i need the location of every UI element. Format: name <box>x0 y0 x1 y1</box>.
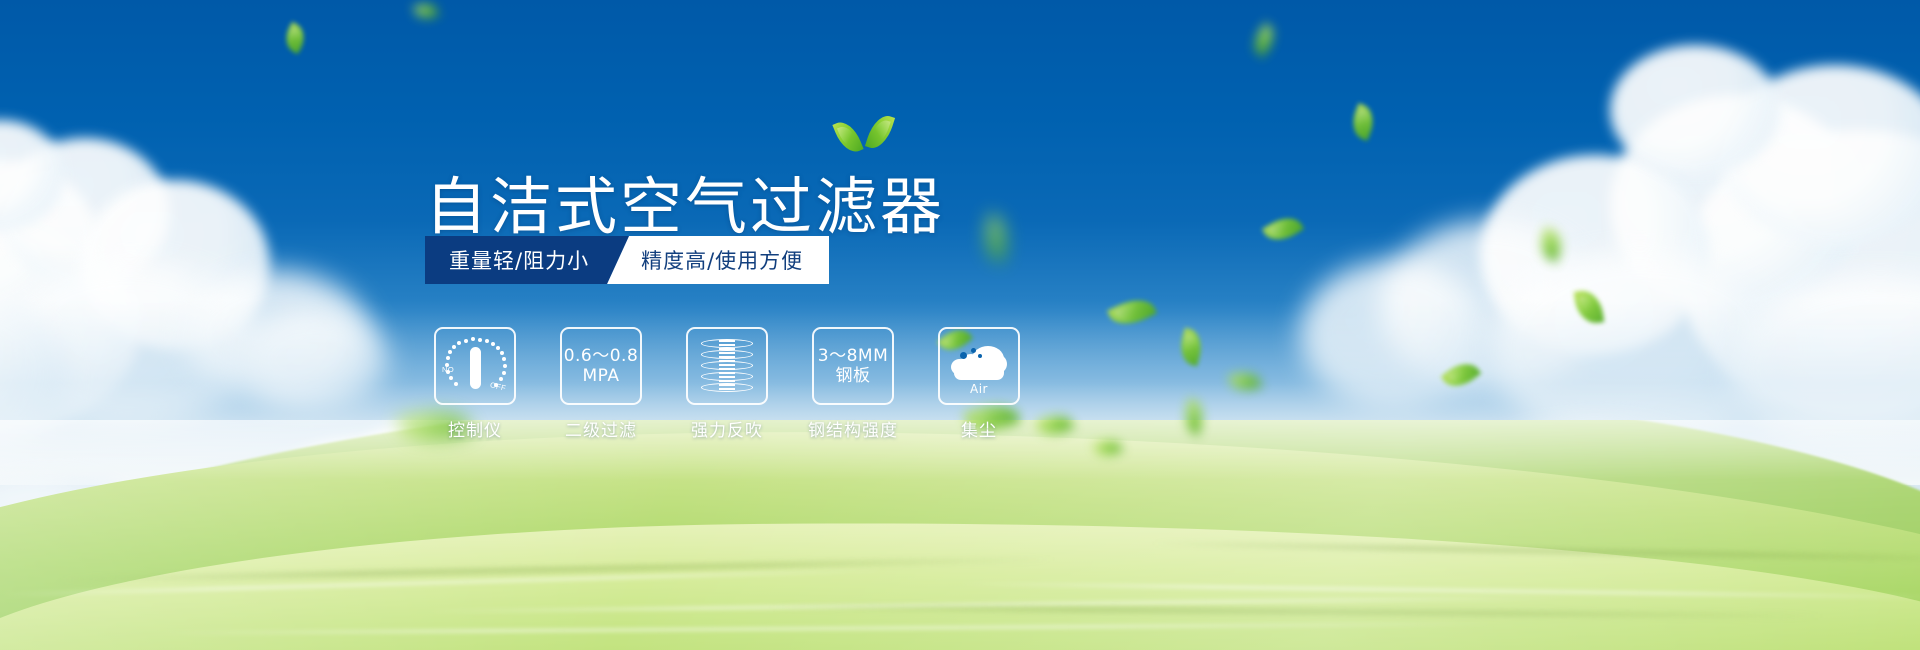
pressure-unit: MPA <box>564 366 639 386</box>
feature-two-stage-filter[interactable]: 0.6～0.8 MPA 二级过滤 <box>560 327 642 441</box>
air-label: Air <box>948 382 1010 396</box>
steel-thickness: 3～8MM <box>818 346 888 366</box>
gauge-label-no: NO <box>442 365 454 374</box>
feature-list: NO OFF 控制仪 0.6～0.8 MPA 二级过滤 <box>434 327 1020 441</box>
feature-steel-strength[interactable]: 3～8MM 钢板 钢结构强度 <box>812 327 894 441</box>
air-cloud-icon: Air <box>948 338 1010 394</box>
feature-label: 控制仪 <box>448 416 502 441</box>
feature-backflush[interactable]: 强力反吹 <box>686 327 768 441</box>
steel-material: 钢板 <box>818 366 888 386</box>
feature-dust-collection[interactable]: Air 集尘 <box>938 327 1020 441</box>
tag-group: 重量轻/阻力小 精度高/使用方便 <box>425 236 829 284</box>
coil-icon <box>701 337 753 395</box>
pressure-icon: 0.6～0.8 MPA <box>564 346 639 386</box>
feature-box: 0.6～0.8 MPA <box>560 327 642 405</box>
gauge-icon: NO OFF <box>445 337 505 395</box>
hero-banner: 自洁式空气过滤器 重量轻/阻力小 精度高/使用方便 <box>0 0 1920 650</box>
tag-weight-resistance[interactable]: 重量轻/阻力小 <box>425 236 629 284</box>
feature-label: 二级过滤 <box>565 416 637 441</box>
feature-box: 3～8MM 钢板 <box>812 327 894 405</box>
feature-label: 钢结构强度 <box>808 416 898 441</box>
sprout-leaves-icon <box>838 108 908 154</box>
feature-label: 集尘 <box>961 416 997 441</box>
pressure-value: 0.6～0.8 <box>564 346 639 366</box>
feature-box: NO OFF <box>434 327 516 405</box>
feature-label: 强力反吹 <box>691 416 763 441</box>
steel-plate-icon: 3～8MM 钢板 <box>818 346 888 386</box>
feature-box: Air <box>938 327 1020 405</box>
gauge-label-off: OFF <box>489 380 507 393</box>
feature-box <box>686 327 768 405</box>
banner-content: 自洁式空气过滤器 重量轻/阻力小 精度高/使用方便 <box>0 0 1920 650</box>
page-title: 自洁式空气过滤器 <box>425 176 945 238</box>
feature-controller[interactable]: NO OFF 控制仪 <box>434 327 516 441</box>
tag-precision-convenience[interactable]: 精度高/使用方便 <box>607 236 829 284</box>
